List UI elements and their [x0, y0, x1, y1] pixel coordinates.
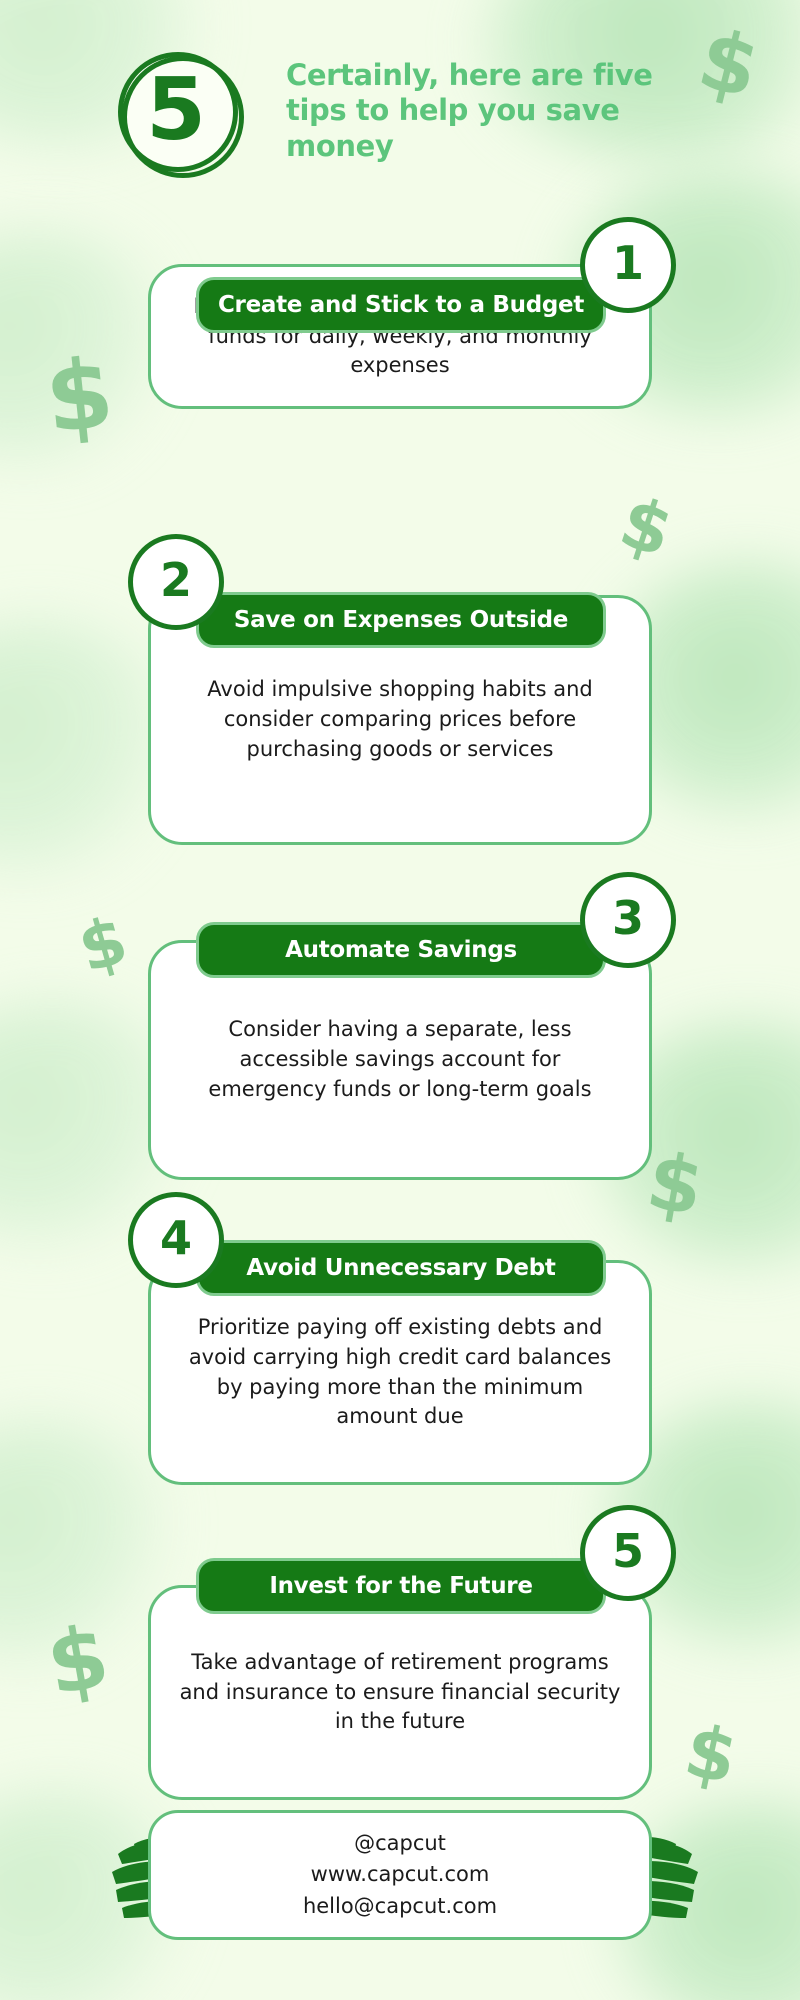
footer-website[interactable]: www.capcut.com — [311, 1859, 490, 1891]
footer-email[interactable]: hello@capcut.com — [303, 1891, 497, 1923]
tip-header-bar[interactable]: Save on Expenses Outside — [196, 592, 606, 648]
tip-number-badge: 2 — [128, 534, 224, 630]
tip-title: Invest for the Future — [269, 1573, 532, 1599]
tip-number: 4 — [160, 1215, 192, 1261]
tip-header-bar[interactable]: Automate Savings — [196, 922, 606, 978]
tip-number-badge: 4 — [128, 1192, 224, 1288]
footer-contact-card: @capcut www.capcut.com hello@capcut.com — [148, 1810, 652, 1940]
header: 5 Certainly, here are five tips to help … — [0, 0, 800, 230]
tip-header-bar[interactable]: Avoid Unnecessary Debt — [196, 1240, 606, 1296]
footer: @capcut www.capcut.com hello@capcut.com — [0, 1810, 800, 1970]
tip-body: Take advantage of retirement programs an… — [148, 1585, 652, 1800]
dollar-sign-icon: $ — [41, 345, 117, 447]
tip-number: 3 — [612, 895, 644, 941]
footer-handle[interactable]: @capcut — [354, 1828, 446, 1860]
tip-title: Create and Stick to a Budget — [218, 292, 584, 318]
tip-header-bar[interactable]: Invest for the Future — [196, 1558, 606, 1614]
header-number-badge: 5 — [118, 52, 238, 172]
tip-number: 5 — [612, 1528, 644, 1574]
tip-body-text: Prioritize paying off existing debts and… — [151, 1313, 649, 1432]
tip-body-text: Consider having a separate, less accessi… — [151, 1015, 649, 1104]
header-badge-number: 5 — [115, 50, 235, 170]
tip-number: 1 — [612, 240, 644, 286]
tip-body-text: Avoid impulsive shopping habits and cons… — [151, 675, 649, 764]
tip-title: Automate Savings — [285, 937, 517, 963]
tip-title: Save on Expenses Outside — [234, 607, 568, 633]
tip-number-badge: 3 — [580, 872, 676, 968]
tip-header-bar[interactable]: Create and Stick to a Budget — [196, 277, 606, 333]
tip-number: 2 — [160, 557, 192, 603]
tip-body-text: Take advantage of retirement programs an… — [151, 1648, 649, 1737]
tip-number-badge: 5 — [580, 1505, 676, 1601]
tip-title: Avoid Unnecessary Debt — [246, 1255, 555, 1281]
page-title: Certainly, here are five tips to help yo… — [286, 58, 706, 164]
tip-number-badge: 1 — [580, 217, 676, 313]
